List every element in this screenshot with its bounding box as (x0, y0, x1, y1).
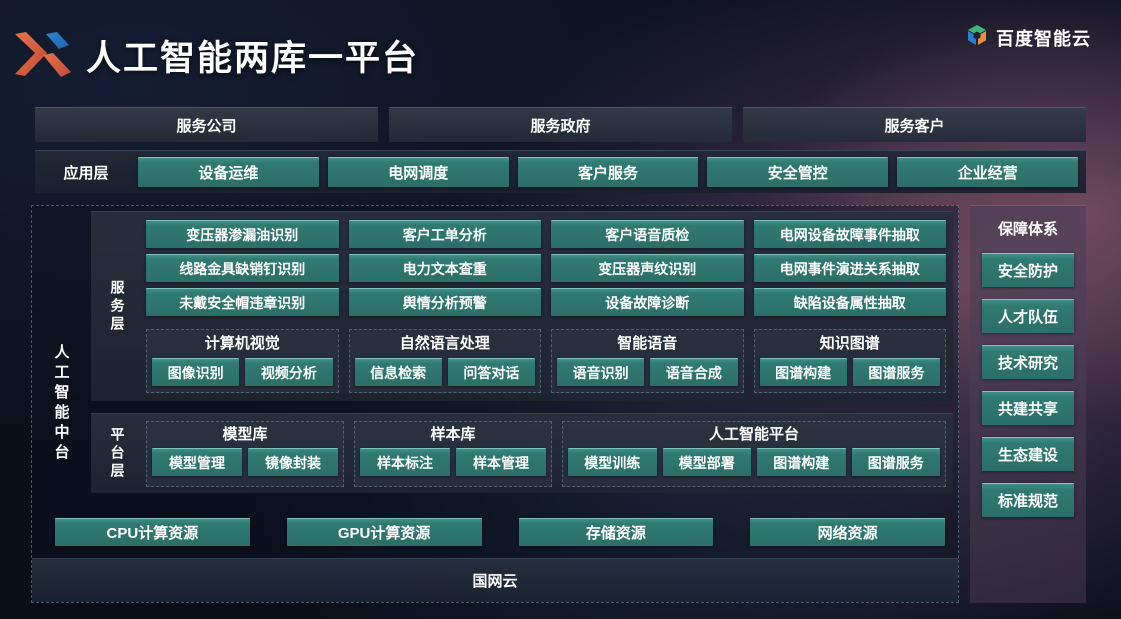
application-item-safety-control[interactable]: 安全管控 (707, 157, 888, 187)
platform-group-title: 模型库 (222, 425, 267, 445)
capability-group-knowledge-graph: 知识图谱 图谱构建 图谱服务 (754, 329, 947, 393)
platform-item[interactable]: 样本管理 (456, 448, 546, 476)
resource-row: CPU计算资源 GPU计算资源 存储资源 网络资源 (55, 518, 945, 546)
baidu-cloud-hexagon-icon (965, 22, 989, 53)
service-item[interactable]: 设备故障诊断 (551, 288, 744, 316)
double-chevron-icon (13, 28, 75, 80)
guarantee-item-security[interactable]: 安全防护 (982, 253, 1074, 287)
platform-item[interactable]: 模型训练 (568, 448, 657, 476)
guarantee-item-standards[interactable]: 标准规范 (982, 483, 1074, 517)
application-layer-label: 应用层 (43, 162, 129, 183)
page-header: 人工智能两库一平台 百度智能云 (0, 0, 1121, 96)
slide-canvas: 人工智能两库一平台 百度智能云 服务公司 服务政府 服务客户 应用层 设备运维 … (0, 0, 1121, 619)
service-item[interactable]: 线路金具缺销钉识别 (146, 254, 339, 282)
platform-item[interactable]: 模型管理 (152, 448, 242, 476)
page-title: 人工智能两库一平台 (86, 30, 419, 81)
resource-item-gpu[interactable]: GPU计算资源 (287, 518, 482, 546)
service-column: 电网设备故障事件抽取 电网事件演进关系抽取 缺陷设备属性抽取 (754, 220, 947, 316)
platform-group-title: 样本库 (430, 425, 475, 445)
cloud-row: 国网云 (32, 558, 958, 602)
service-layer-grid: 变压器渗漏油识别 线路金具缺销钉识别 未戴安全帽违章识别 客户工单分析 电力文本… (146, 220, 946, 316)
capability-item[interactable]: 信息检索 (355, 358, 442, 386)
service-item[interactable]: 变压器声纹识别 (551, 254, 744, 282)
capability-item[interactable]: 图谱服务 (853, 358, 940, 386)
platform-group-title: 人工智能平台 (709, 425, 799, 445)
capability-group-computer-vision: 计算机视觉 图像识别 视频分析 (146, 329, 339, 393)
platform-layer-label: 平台层 (91, 414, 144, 493)
capability-item[interactable]: 语音合成 (650, 358, 737, 386)
guarantee-item-talent[interactable]: 人才队伍 (982, 299, 1074, 333)
platform-item[interactable]: 样本标注 (360, 448, 450, 476)
brand-logo: 百度智能云 (965, 22, 1091, 53)
platform-item[interactable]: 模型部署 (663, 448, 752, 476)
service-target-row: 服务公司 服务政府 服务客户 (35, 107, 1086, 142)
service-column: 客户工单分析 电力文本查重 舆情分析预警 (349, 220, 542, 316)
platform-group-model-library: 模型库 模型管理 镜像封装 (146, 421, 344, 487)
service-target-item[interactable]: 服务政府 (389, 107, 732, 142)
service-item[interactable]: 电网设备故障事件抽取 (754, 220, 947, 248)
resource-item-storage[interactable]: 存储资源 (519, 518, 714, 546)
guarantee-item-research[interactable]: 技术研究 (982, 345, 1074, 379)
service-target-item[interactable]: 服务客户 (743, 107, 1086, 142)
platform-group-ai-platform: 人工智能平台 模型训练 模型部署 图谱构建 图谱服务 (562, 421, 946, 487)
service-item[interactable]: 舆情分析预警 (349, 288, 542, 316)
platform-item[interactable]: 镜像封装 (248, 448, 338, 476)
service-target-item[interactable]: 服务公司 (35, 107, 378, 142)
resource-item-network[interactable]: 网络资源 (750, 518, 945, 546)
service-item[interactable]: 电网事件演进关系抽取 (754, 254, 947, 282)
platform-layer-grid: 模型库 模型管理 镜像封装 样本库 样本标注 样本管理 人工智能平台 模型训练 … (146, 421, 946, 487)
application-layer-row: 应用层 设备运维 电网调度 客户服务 安全管控 企业经营 (35, 150, 1086, 193)
application-item-equipment-ops[interactable]: 设备运维 (138, 157, 319, 187)
guarantee-item-ecosystem[interactable]: 生态建设 (982, 437, 1074, 471)
service-item[interactable]: 变压器渗漏油识别 (146, 220, 339, 248)
service-item[interactable]: 电力文本查重 (349, 254, 542, 282)
application-item-enterprise-ops[interactable]: 企业经营 (897, 157, 1078, 187)
capability-title: 智能语音 (617, 334, 677, 354)
capability-item[interactable]: 问答对话 (448, 358, 535, 386)
service-layer-label: 服务层 (91, 212, 144, 401)
service-layer-zone: 服务层 变压器渗漏油识别 线路金具缺销钉识别 未戴安全帽违章识别 客户工单分析 … (91, 211, 953, 401)
service-item[interactable]: 客户语音质检 (551, 220, 744, 248)
service-column: 客户语音质检 变压器声纹识别 设备故障诊断 (551, 220, 744, 316)
guarantee-system-panel: 保障体系 安全防护 人才队伍 技术研究 共建共享 生态建设 标准规范 (970, 205, 1086, 603)
capability-item[interactable]: 图谱构建 (760, 358, 847, 386)
service-item[interactable]: 缺陷设备属性抽取 (754, 288, 947, 316)
application-item-customer-service[interactable]: 客户服务 (518, 157, 699, 187)
capability-group-nlp: 自然语言处理 信息检索 问答对话 (349, 329, 542, 393)
capability-item[interactable]: 视频分析 (245, 358, 332, 386)
brand-name: 百度智能云 (996, 25, 1091, 51)
platform-group-sample-library: 样本库 样本标注 样本管理 (354, 421, 552, 487)
capability-item[interactable]: 图像识别 (152, 358, 239, 386)
guarantee-item-co-build[interactable]: 共建共享 (982, 391, 1074, 425)
application-item-grid-dispatch[interactable]: 电网调度 (328, 157, 509, 187)
platform-layer-zone: 平台层 模型库 模型管理 镜像封装 样本库 样本标注 样本管理 人工智能平台 模 (91, 413, 953, 493)
platform-item[interactable]: 图谱服务 (852, 448, 941, 476)
guarantee-system-title: 保障体系 (998, 218, 1058, 239)
service-item[interactable]: 未戴安全帽违章识别 (146, 288, 339, 316)
service-item[interactable]: 客户工单分析 (349, 220, 542, 248)
resource-item-cpu[interactable]: CPU计算资源 (55, 518, 250, 546)
capability-group-speech: 智能语音 语音识别 语音合成 (551, 329, 744, 393)
capability-item[interactable]: 语音识别 (557, 358, 644, 386)
capability-title: 知识图谱 (820, 334, 880, 354)
capability-title: 自然语言处理 (400, 334, 490, 354)
service-column: 变压器渗漏油识别 线路金具缺销钉识别 未戴安全帽违章识别 (146, 220, 339, 316)
capability-grid: 计算机视觉 图像识别 视频分析 自然语言处理 信息检索 问答对话 智能语音 语音… (146, 329, 946, 393)
platform-item[interactable]: 图谱构建 (757, 448, 846, 476)
capability-title: 计算机视觉 (205, 334, 280, 354)
